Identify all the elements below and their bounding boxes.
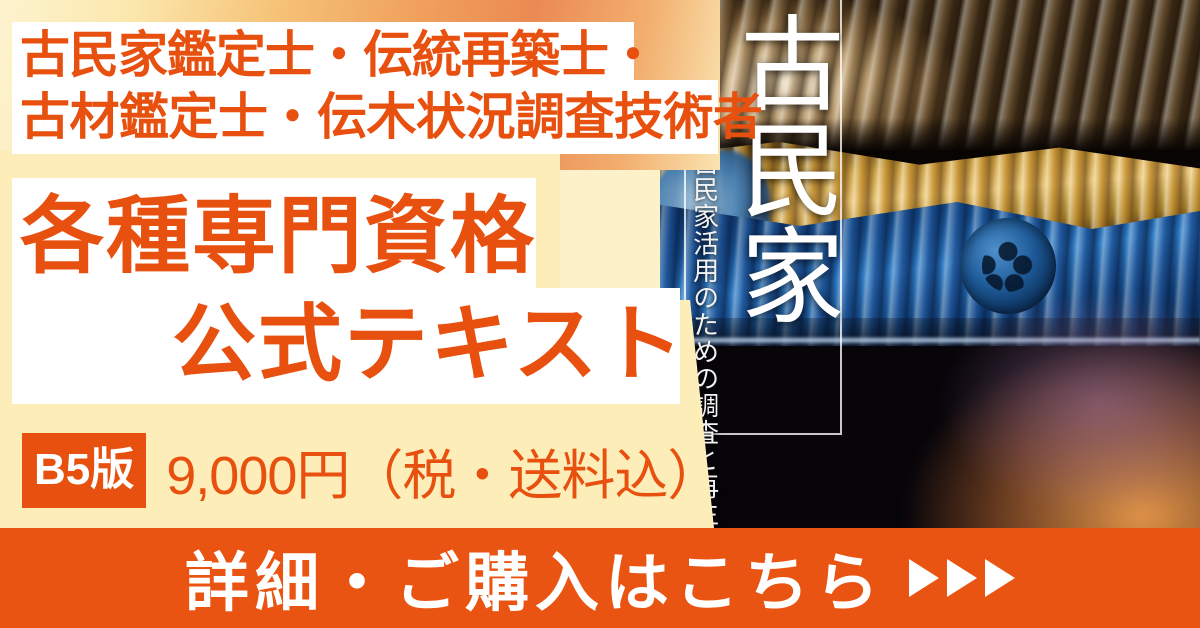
cta-label: 詳細・ご購入はこちら xyxy=(185,532,885,624)
promo-banner: 伝統構法、古民家活用のための調査と再生の 古民家 古民家鑑定士・伝統再築士・ 古… xyxy=(0,0,1200,628)
price-row: B5版 9,000円（税・送料込） xyxy=(22,432,720,508)
book-cover-image: 伝統構法、古民家活用のための調査と再生の 古民家 xyxy=(660,0,1200,528)
chevron-right-icon xyxy=(947,559,977,597)
price-amount: 9,000円（税・送料込） xyxy=(166,431,720,510)
qualification-heading-line1: 古民家鑑定士・伝統再築士・ xyxy=(20,24,720,86)
format-badge: B5版 xyxy=(22,433,146,508)
qualification-heading-line2: 古材鑑定士・伝木状況調査技術者 xyxy=(20,86,720,148)
cta-arrows xyxy=(909,559,1015,597)
main-title-line1: 各種専門資格 xyxy=(20,189,536,283)
main-title-line2: 公式テキスト xyxy=(20,290,700,398)
qualification-heading: 古民家鑑定士・伝統再築士・ 古材鑑定士・伝木状況調査技術者 xyxy=(20,24,720,148)
cover-warm-glow xyxy=(840,278,1200,528)
book-cover-title: 古民家 xyxy=(738,10,848,328)
chevron-right-icon xyxy=(909,559,939,597)
chevron-right-icon xyxy=(985,559,1015,597)
main-title: 各種専門資格 公式テキスト xyxy=(20,182,700,398)
cta-bar[interactable]: 詳細・ご購入はこちら xyxy=(0,528,1200,628)
